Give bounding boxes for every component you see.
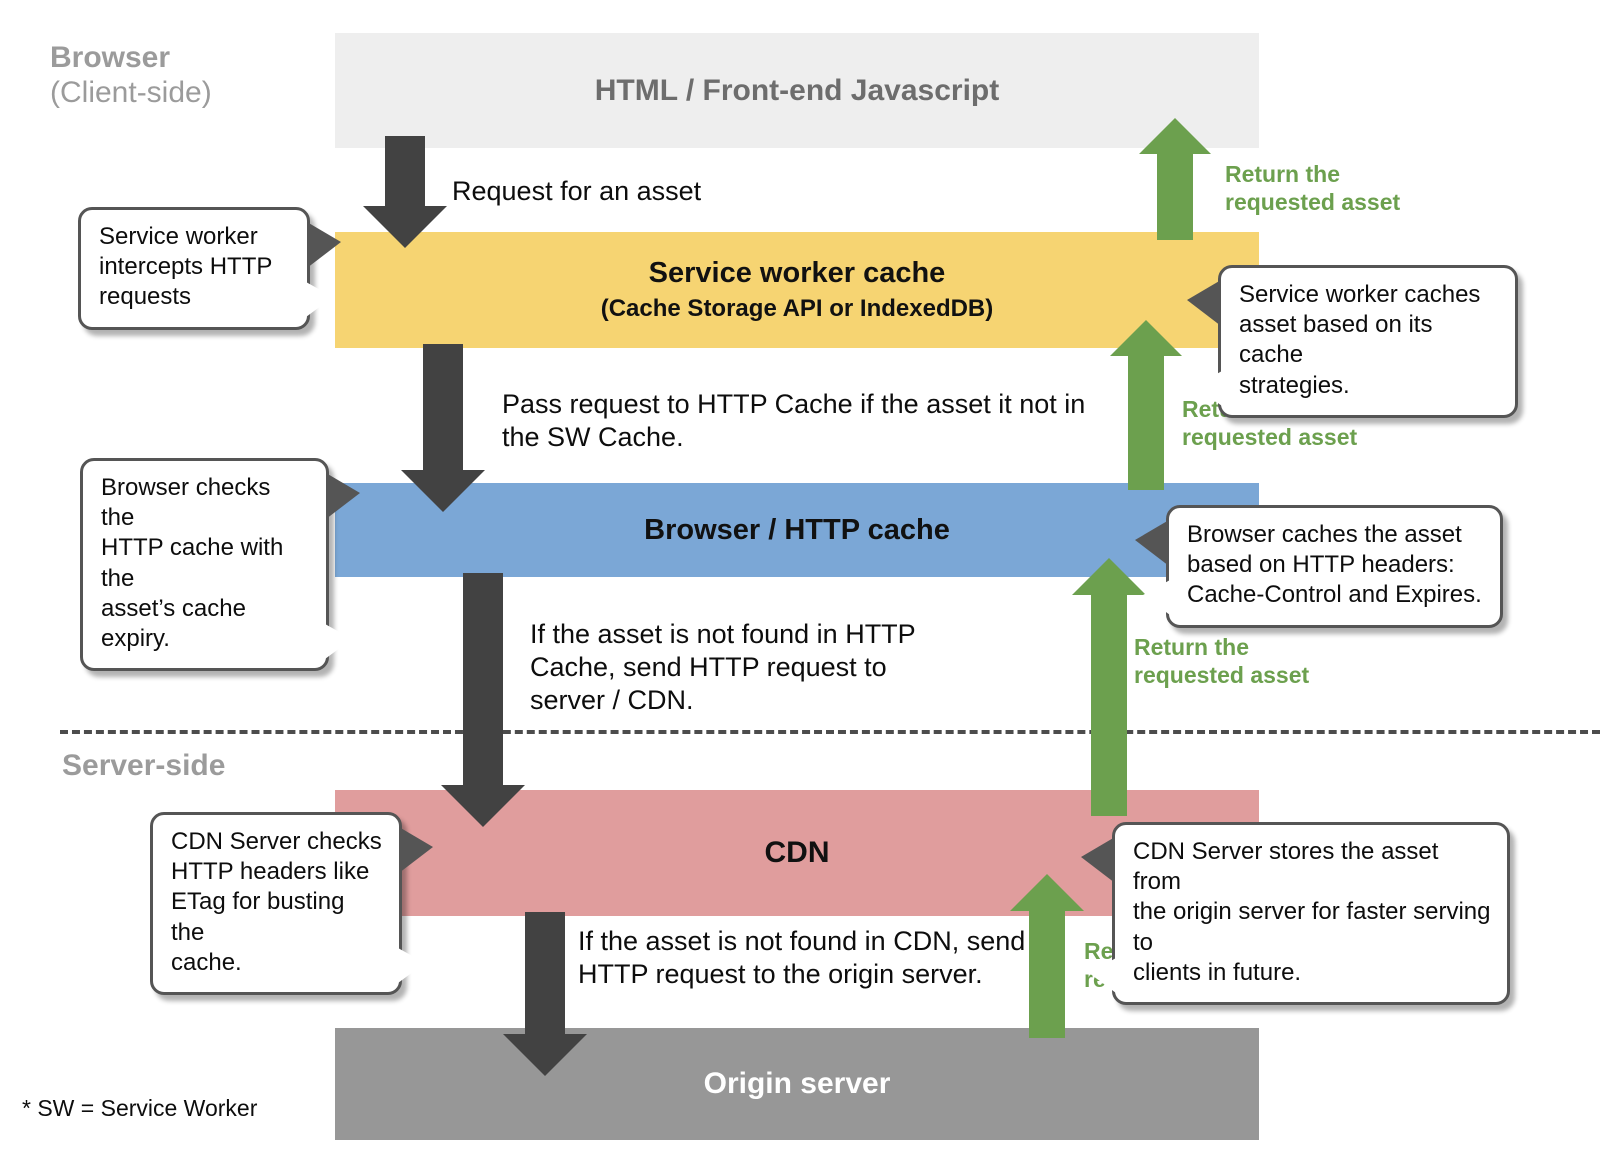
request-arrow-html-to-sw-icon (363, 136, 447, 248)
return-arrow-http-to-sw-icon (1110, 320, 1182, 490)
browser-label-line1: Browser (50, 40, 212, 75)
callout-browser-caches-asset: Browser caches the asset based on HTTP h… (1166, 505, 1503, 628)
layer-cdn-title: CDN (765, 835, 830, 871)
server-side-label: Server-side (62, 748, 225, 783)
layer-service-worker-subtitle: (Cache Storage API or IndexedDB) (601, 295, 994, 324)
request-arrow-cdn-to-origin-icon (503, 912, 587, 1076)
layer-http-cache-title: Browser / HTTP cache (644, 513, 950, 548)
flow-label-pass-to-http-cache: Pass request to HTTP Cache if the asset … (502, 388, 1102, 454)
callout-cdn-stores-asset: CDN Server stores the asset from the ori… (1112, 822, 1510, 1005)
flow-label-not-found-in-cdn: If the asset is not found in CDN, send H… (578, 925, 1038, 991)
layer-origin-server: Origin server (335, 1028, 1259, 1140)
callout-cdn-checks-headers: CDN Server checks HTTP headers like ETag… (150, 812, 402, 995)
request-arrow-sw-to-http-icon (401, 344, 485, 512)
callout-service-worker-caches: Service worker caches asset based on its… (1218, 265, 1518, 418)
footnote-sw-abbreviation: * SW = Service Worker (22, 1095, 257, 1122)
return-label-to-html: Return the requested asset (1225, 160, 1400, 216)
callout-browser-checks-http-cache: Browser checks the HTTP cache with the a… (80, 458, 329, 671)
flow-label-not-found-in-http: If the asset is not found in HTTP Cache,… (530, 618, 950, 717)
return-label-to-http-cache: Return the requested asset (1134, 633, 1309, 689)
callout-service-worker-intercepts: Service worker intercepts HTTP requests (78, 207, 310, 330)
layer-origin-title: Origin server (704, 1066, 891, 1102)
server-label-text: Server-side (62, 748, 225, 783)
layer-html-frontend: HTML / Front-end Javascript (335, 33, 1259, 148)
return-arrow-sw-to-html-icon (1139, 118, 1211, 240)
diagram-canvas: Browser (Client-side) Server-side HTML /… (0, 0, 1600, 1170)
flow-label-request-for-asset: Request for an asset (452, 175, 701, 208)
client-server-divider (60, 730, 1600, 734)
return-arrow-origin-to-cdn-icon (1010, 874, 1084, 1038)
return-arrow-cdn-to-http-icon (1072, 558, 1146, 816)
layer-html-title: HTML / Front-end Javascript (595, 73, 1000, 109)
layer-service-worker-title: Service worker cache (649, 256, 946, 291)
browser-label-line2: (Client-side) (50, 75, 212, 110)
request-arrow-http-to-cdn-icon (441, 573, 525, 827)
browser-side-label: Browser (Client-side) (50, 40, 212, 111)
